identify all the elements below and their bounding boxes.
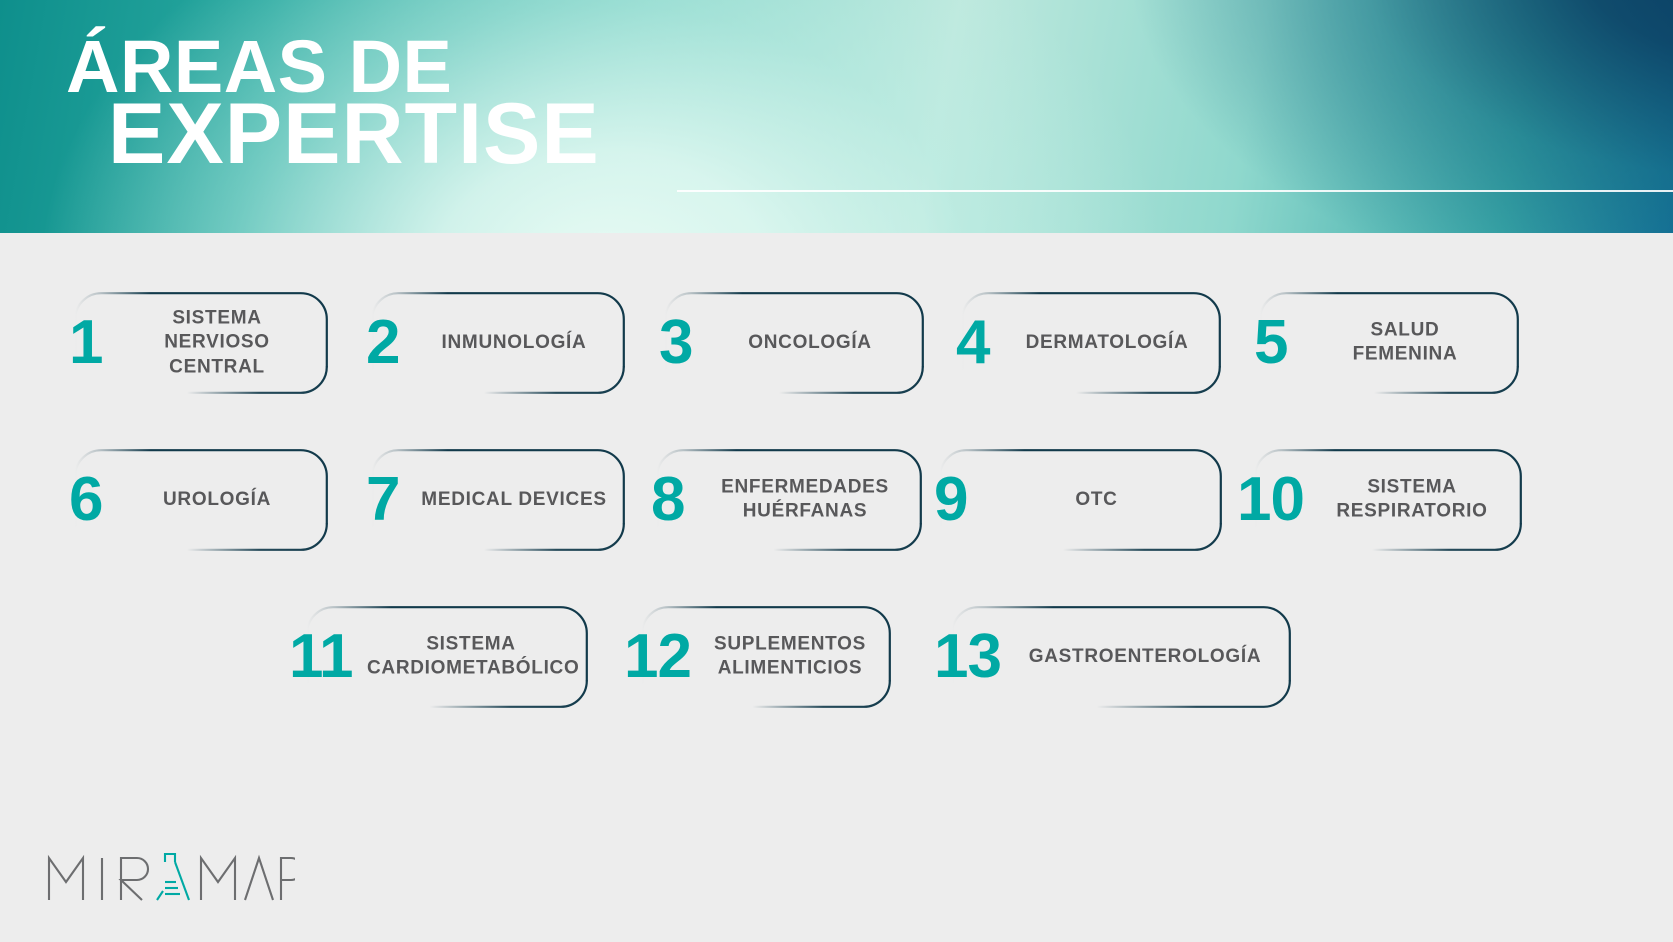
card-number: 7 [366, 469, 399, 531]
card-number: 11 [289, 626, 353, 688]
expertise-card[interactable]: 5SALUD FEMENINA [1258, 291, 1520, 395]
card-number: 10 [1237, 469, 1304, 531]
expertise-card[interactable]: 10SISTEMA RESPIRATORIO [1253, 448, 1523, 552]
card-label: MEDICAL DEVICES [416, 488, 612, 512]
card-label: ENFERMEDADES HUÉRFANAS [701, 476, 909, 525]
expertise-card[interactable]: 11SISTEMA CARDIOMETABÓLICO [305, 605, 589, 709]
expertise-card[interactable]: 9OTC [938, 448, 1223, 552]
card-label: GASTROENTEROLOGÍA [1012, 645, 1278, 669]
logo-letter-r [121, 858, 148, 900]
logo-letter-m1 [49, 858, 83, 900]
card-label: DERMATOLOGÍA [1006, 331, 1208, 355]
card-label: SUPLEMENTOS ALIMENTICIOS [702, 633, 878, 682]
expertise-card[interactable]: 7MEDICAL DEVICES [370, 448, 626, 552]
card-number: 2 [366, 312, 399, 374]
logo-letter-m2 [201, 858, 235, 900]
card-label: OTC [984, 488, 1209, 512]
card-number: 6 [69, 469, 102, 531]
card-label: SISTEMA NERVIOSO CENTRAL [119, 307, 315, 380]
logo-accent-mark [157, 854, 189, 900]
expertise-card[interactable]: 6UROLOGÍA [73, 448, 329, 552]
card-number: 12 [624, 626, 691, 688]
card-number: 13 [934, 626, 1001, 688]
expertise-card[interactable]: 13GASTROENTEROLOGÍA [950, 605, 1292, 709]
expertise-card[interactable]: 3ONCOLOGÍA [663, 291, 925, 395]
page-title-line-2: EXPERTISE [108, 99, 600, 170]
card-label: INMUNOLOGÍA [416, 331, 612, 355]
expertise-card[interactable]: 4DERMATOLOGÍA [960, 291, 1222, 395]
card-label: UROLOGÍA [119, 488, 315, 512]
card-number: 3 [659, 312, 692, 374]
card-label: SISTEMA CARDIOMETABÓLICO [367, 633, 575, 682]
miramar-logo [45, 842, 295, 904]
card-number: 1 [69, 312, 102, 374]
expertise-card[interactable]: 8ENFERMEDADES HUÉRFANAS [655, 448, 923, 552]
card-label: SALUD FEMENINA [1304, 319, 1506, 368]
expertise-areas-board: 1SISTEMA NERVIOSO CENTRAL2INMUNOLOGÍA3ON… [0, 233, 1673, 942]
card-number: 4 [956, 312, 989, 374]
logo-letter-a2 [245, 858, 273, 900]
page-title: ÁREAS DE EXPERTISE [64, 36, 600, 171]
header-rule-divider [677, 190, 1673, 192]
card-label: SISTEMA RESPIRATORIO [1315, 476, 1509, 525]
card-number: 9 [934, 469, 967, 531]
expertise-card[interactable]: 12SUPLEMENTOS ALIMENTICIOS [640, 605, 892, 709]
expertise-card[interactable]: 2INMUNOLOGÍA [370, 291, 626, 395]
card-number: 8 [651, 469, 684, 531]
page-header: ÁREAS DE EXPERTISE [0, 0, 1673, 233]
page-title-line-1: ÁREAS DE [64, 36, 600, 97]
card-number: 5 [1254, 312, 1287, 374]
logo-letter-r2 [281, 858, 295, 900]
expertise-card[interactable]: 1SISTEMA NERVIOSO CENTRAL [73, 291, 329, 395]
card-label: ONCOLOGÍA [709, 331, 911, 355]
